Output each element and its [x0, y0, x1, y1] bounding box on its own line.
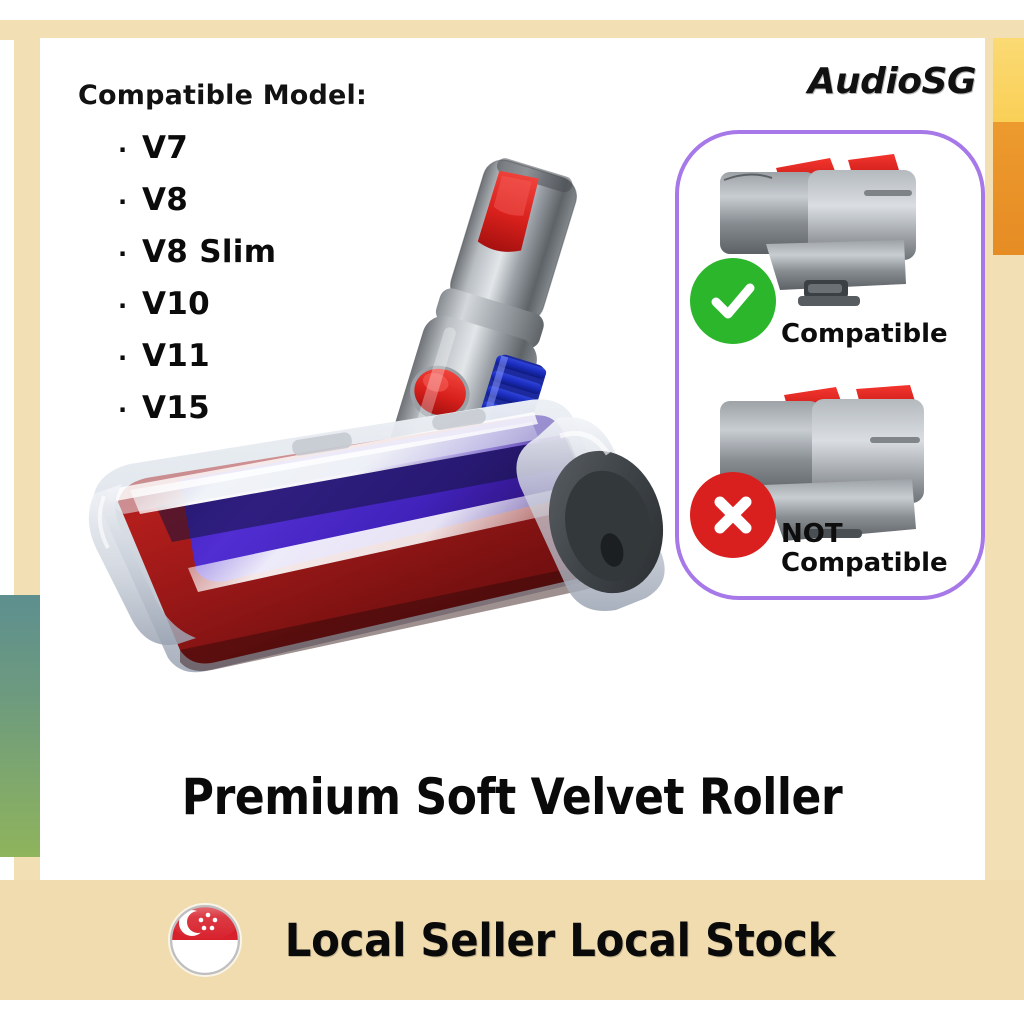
compatible-model-list: ·V7·V8·V8 Slim·V10·V11·V15 [118, 130, 276, 442]
compatible-label: Compatible [781, 320, 948, 349]
bullet-icon: · [118, 294, 142, 318]
compatible-model-item: ·V7 [118, 130, 276, 182]
compatible-model-heading: Compatible Model: [78, 80, 367, 111]
local-seller-banner: Local Seller Local Stock [0, 890, 1024, 990]
compatible-model-item: ·V11 [118, 338, 276, 390]
compatible-model-label: V15 [142, 390, 210, 426]
compatible-model-item: ·V10 [118, 286, 276, 338]
local-seller-text: Local Seller Local Stock [285, 914, 835, 967]
not-compatible-line2: Compatible [781, 549, 948, 578]
compatible-model-item: ·V8 Slim [118, 234, 276, 286]
brand-logo: AudioSG [808, 61, 976, 102]
bullet-icon: · [118, 190, 142, 214]
compatible-model-label: V7 [142, 130, 188, 166]
compatible-model-label: V8 Slim [142, 234, 276, 270]
cross-icon [690, 472, 776, 558]
compatible-model-label: V10 [142, 286, 210, 322]
top-tan-band [0, 20, 1024, 40]
bullet-icon: · [118, 242, 142, 266]
bullet-icon: · [118, 138, 142, 162]
compatible-model-label: V11 [142, 338, 210, 374]
bullet-icon: · [118, 398, 142, 422]
not-compatible-line1: NOT [781, 520, 948, 549]
right-accent-yellow-bar [993, 38, 1024, 122]
singapore-flag-icon [168, 903, 242, 977]
product-title: Premium Soft Velvet Roller [61, 768, 962, 826]
bullet-icon: · [118, 346, 142, 370]
not-compatible-label: NOT Compatible [781, 520, 948, 578]
compatible-model-item: ·V8 [118, 182, 276, 234]
check-icon [690, 258, 776, 344]
left-accent-gradient-bar [0, 595, 40, 857]
product-listing-image: AudioSG [0, 0, 1024, 1024]
compatible-model-item: ·V15 [118, 390, 276, 442]
right-accent-orange-bar [993, 122, 1024, 255]
compatible-model-label: V8 [142, 182, 188, 218]
